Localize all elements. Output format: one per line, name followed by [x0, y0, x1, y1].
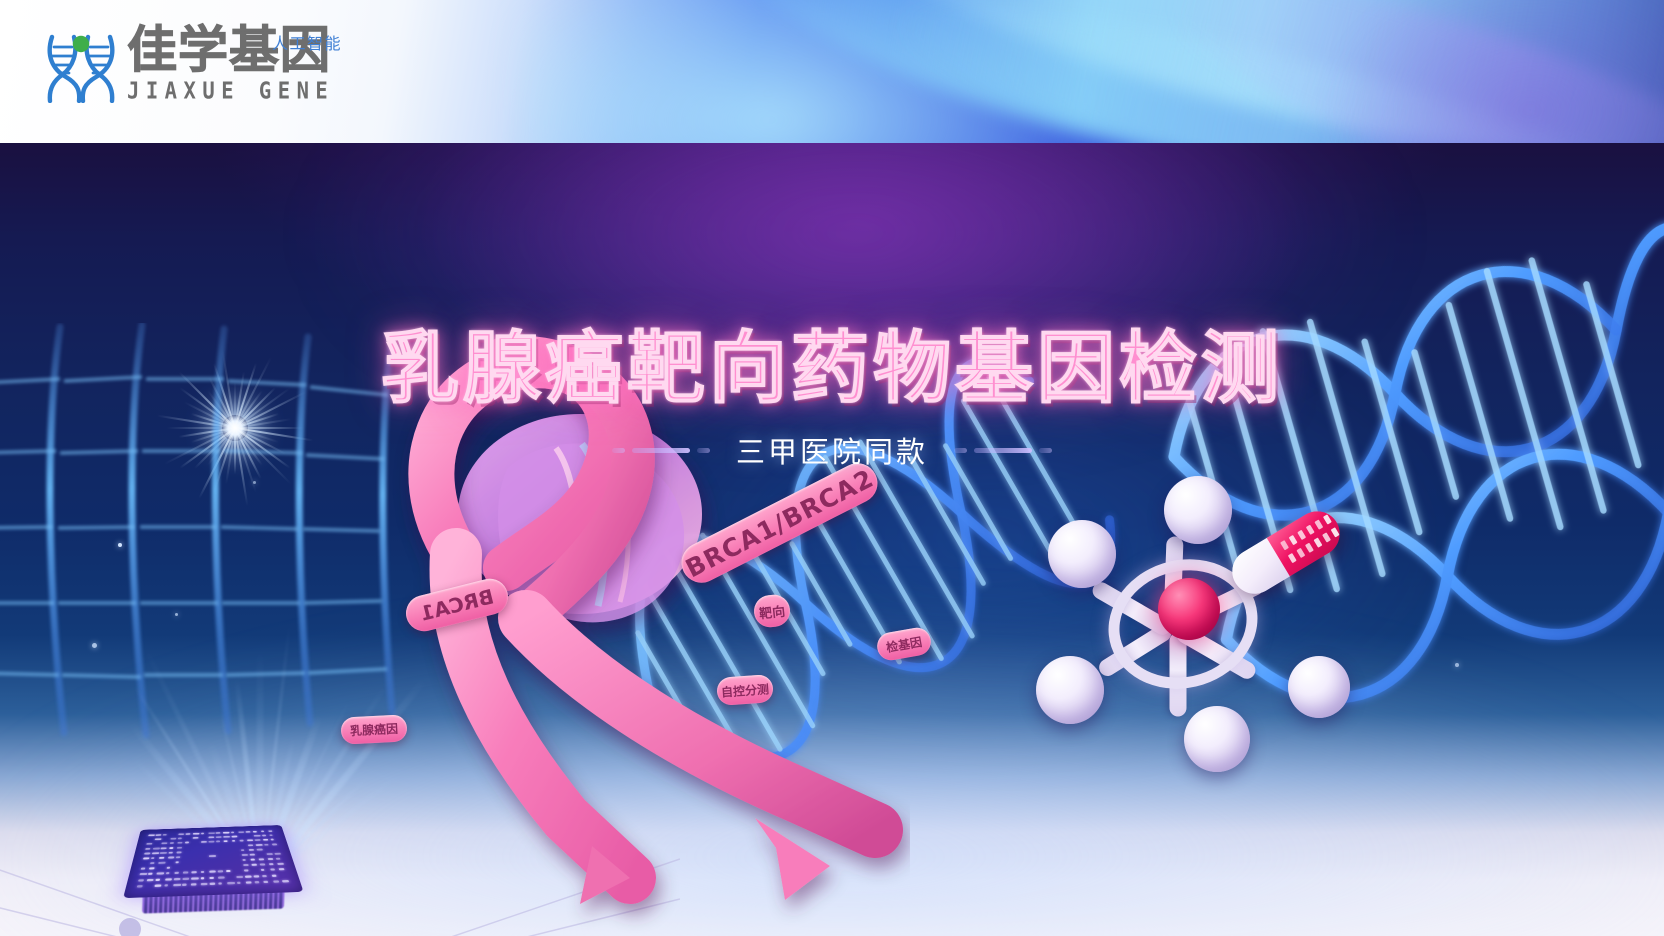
molecule-atom: [1036, 656, 1104, 724]
chip-circuit-grid: [135, 830, 291, 891]
chip-surface: [123, 825, 303, 898]
molecule-atom: [1184, 706, 1250, 772]
header-light-glow: [520, 0, 1140, 143]
drug-capsule-icon: [1224, 503, 1348, 602]
gene-label-small-4: 乳腺癌因: [340, 714, 407, 744]
molecule-model: [1020, 468, 1350, 768]
brand-name-en: JIAXUE GENE: [127, 77, 334, 104]
particle: [118, 543, 122, 547]
dna-butterfly-logo-icon: [44, 25, 118, 103]
subtitle-row: 三甲医院同款: [0, 429, 1664, 471]
page-title: 乳腺癌靶向药物基因检测: [0, 326, 1664, 412]
header-streak-3: [1145, 0, 1664, 143]
particle: [253, 481, 256, 484]
particle: [175, 613, 178, 616]
gene-chip-icon: [131, 800, 293, 913]
molecule-atom: [1164, 476, 1232, 544]
header-streak-5: [1320, 0, 1664, 143]
site-header: 佳学基因 JIAXUE GENE 人工智能: [0, 0, 1664, 143]
subtitle-dash-left: [612, 448, 710, 453]
poster-page: 佳学基因 JIAXUE GENE 人工智能: [0, 0, 1664, 936]
molecule-atom: [1288, 656, 1350, 718]
ai-badge-label: 人工智能: [272, 30, 342, 54]
molecule-atom: [1048, 520, 1116, 588]
molecule-core-atom: [1158, 578, 1220, 640]
poster-main: BRCA1/BRCA2 靶向 检基因 自控分测 乳腺癌因 BRCA1 乳腺癌靶向…: [0, 143, 1664, 936]
subtitle-dash-right: [954, 448, 1052, 453]
page-subtitle: 三甲医院同款: [736, 429, 928, 471]
particle: [1455, 663, 1459, 667]
gene-label-small-3: 自控分测: [716, 674, 774, 706]
